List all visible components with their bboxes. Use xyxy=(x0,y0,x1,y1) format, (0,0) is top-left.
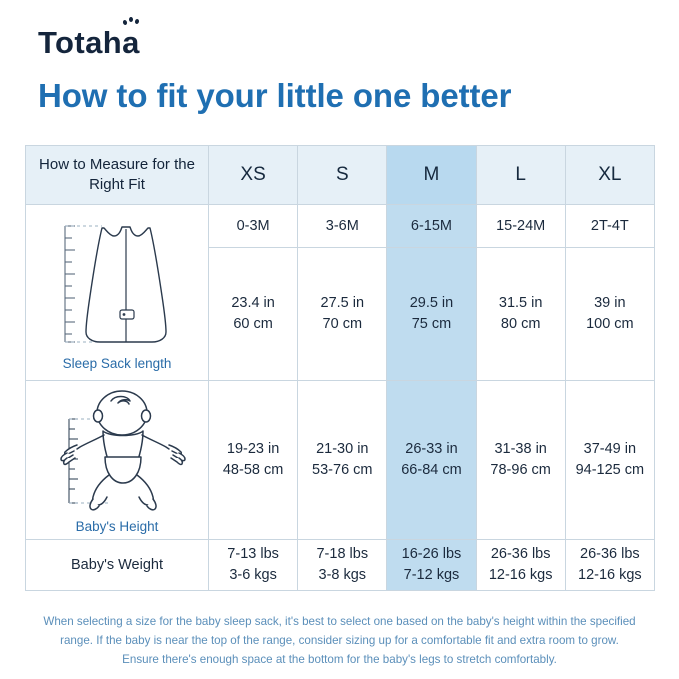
column-header-m: M xyxy=(387,146,476,205)
age-m: 6-15M xyxy=(387,205,476,248)
age-l: 15-24M xyxy=(476,205,565,248)
footer-line-2: range. If the baby is near the top of th… xyxy=(25,631,654,650)
table-row-baby-weight: Baby's Weight 7-13 lbs 3-6 kgs 7-18 lbs … xyxy=(26,540,655,591)
table-row-age: Sleep Sack length 0-3M 3-6M 6-15M 15-24M… xyxy=(26,205,655,248)
column-header-s: S xyxy=(298,146,387,205)
height-s: 21-30 in 53-76 cm xyxy=(298,381,387,540)
weight-s: 7-18 lbs 3-8 kgs xyxy=(298,540,387,591)
baby-weight-label: Baby's Weight xyxy=(26,540,209,591)
sleep-sack-with-ruler-icon xyxy=(42,214,192,354)
height-l: 31-38 in 78-96 cm xyxy=(476,381,565,540)
brand-name: Totaha xyxy=(38,25,140,60)
age-xl: 2T-4T xyxy=(565,205,654,248)
length-l: 31.5 in 80 cm xyxy=(476,248,565,381)
weight-xs: 7-13 lbs 3-6 kgs xyxy=(209,540,298,591)
column-header-xl: XL xyxy=(565,146,654,205)
weight-m: 16-26 lbs 7-12 kgs xyxy=(387,540,476,591)
height-xs: 19-23 in 48-58 cm xyxy=(209,381,298,540)
size-guide-page: Totaha How to fit your little one better… xyxy=(0,0,679,679)
length-s: 27.5 in 70 cm xyxy=(298,248,387,381)
height-m: 26-33 in 66-84 cm xyxy=(387,381,476,540)
weight-xl: 26-36 lbs 12-16 kgs xyxy=(565,540,654,591)
length-xs: 23.4 in 60 cm xyxy=(209,248,298,381)
baby-height-label: Baby's Height xyxy=(76,519,159,534)
weight-l: 26-36 lbs 12-16 kgs xyxy=(476,540,565,591)
table-header-row: How to Measure for the Right Fit XS S M … xyxy=(26,146,655,205)
page-title: How to fit your little one better xyxy=(38,78,511,114)
sleep-sack-length-label: Sleep Sack length xyxy=(63,356,172,371)
length-m: 29.5 in 75 cm xyxy=(387,248,476,381)
table-row-baby-height: Baby's Height 19-23 in 48-58 cm 21-30 in… xyxy=(26,381,655,540)
age-xs: 0-3M xyxy=(209,205,298,248)
sleep-sack-illustration-cell: Sleep Sack length xyxy=(26,205,209,381)
baby-with-ruler-icon xyxy=(37,387,197,517)
column-header-measure: How to Measure for the Right Fit xyxy=(26,146,209,205)
length-xl: 39 in 100 cm xyxy=(565,248,654,381)
height-xl: 37-49 in 94-125 cm xyxy=(565,381,654,540)
footer-line-1: When selecting a size for the baby sleep… xyxy=(25,612,654,631)
age-s: 3-6M xyxy=(298,205,387,248)
baby-illustration-cell: Baby's Height xyxy=(26,381,209,540)
baby-footprint-dots-icon xyxy=(121,16,143,30)
footer-note: When selecting a size for the baby sleep… xyxy=(25,612,654,669)
size-chart-table: How to Measure for the Right Fit XS S M … xyxy=(25,145,655,591)
column-header-l: L xyxy=(476,146,565,205)
brand-logo: Totaha xyxy=(38,27,140,58)
size-chart: How to Measure for the Right Fit XS S M … xyxy=(25,145,654,591)
column-header-xs: XS xyxy=(209,146,298,205)
footer-line-3: Ensure there's enough space at the botto… xyxy=(25,650,654,669)
